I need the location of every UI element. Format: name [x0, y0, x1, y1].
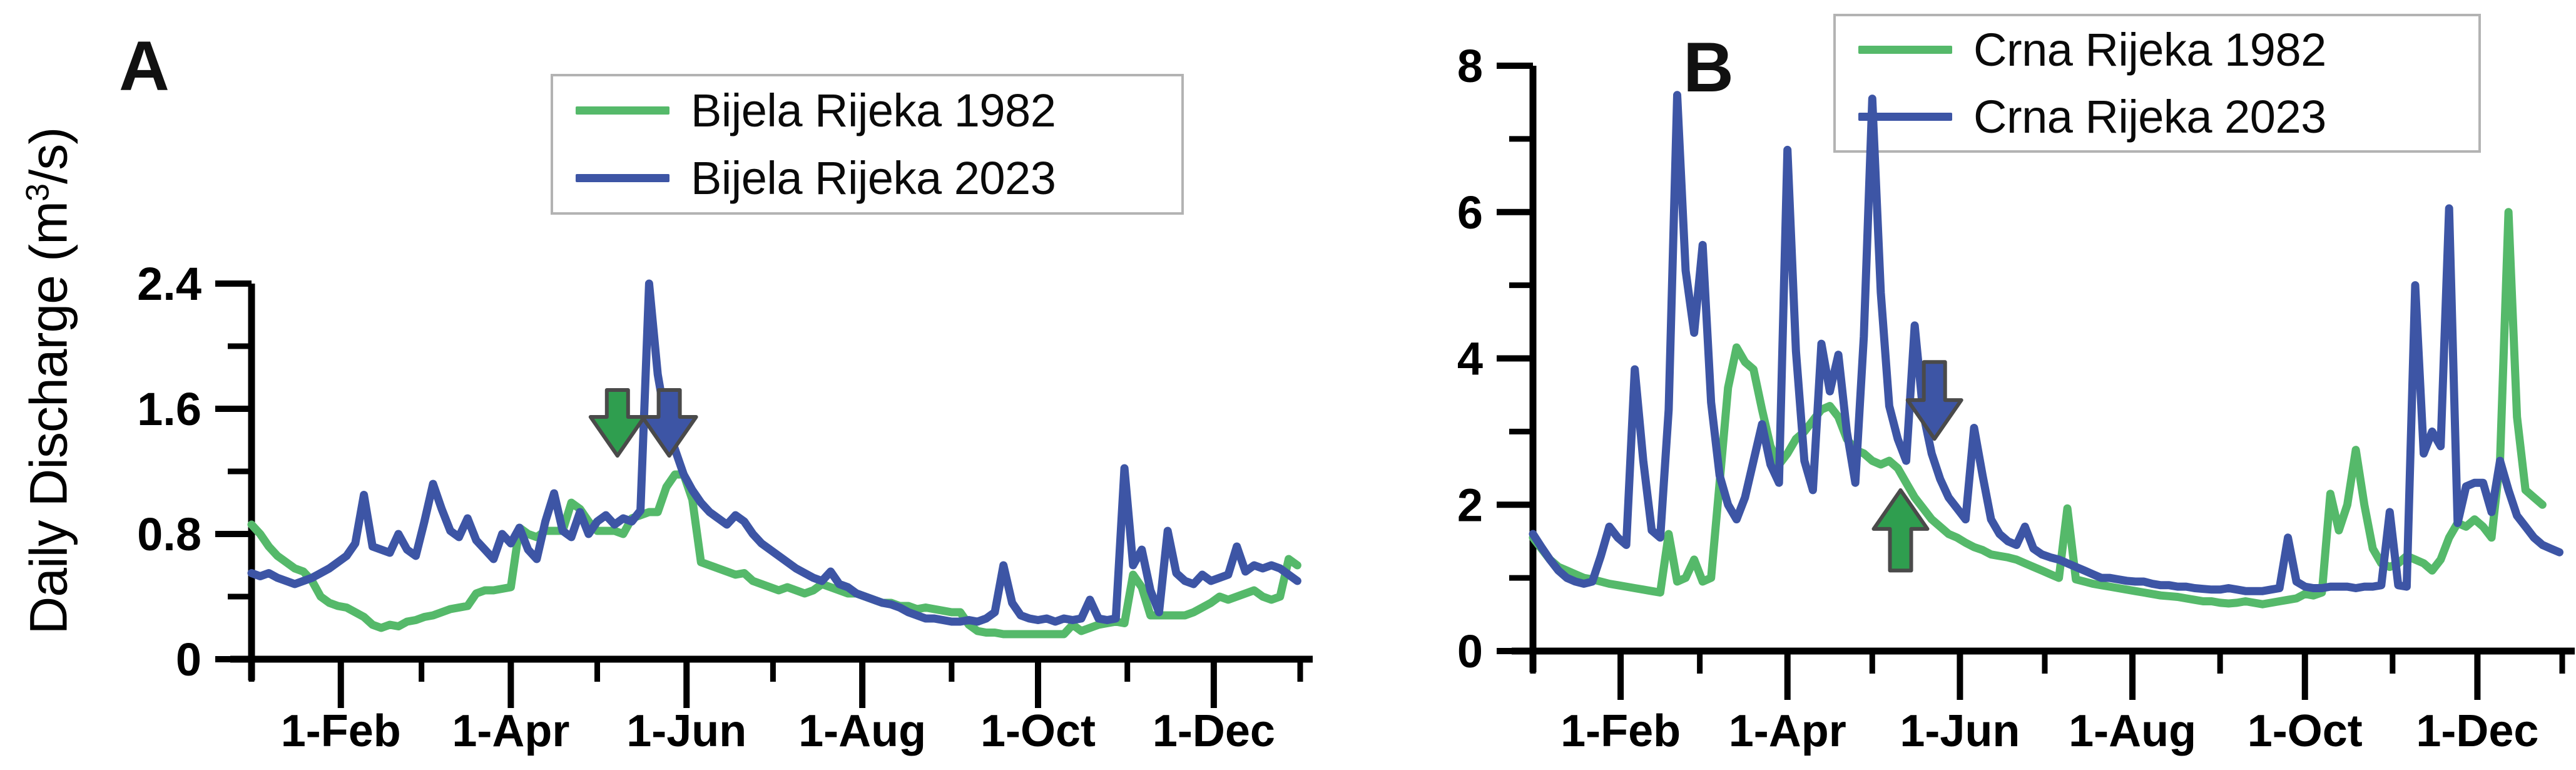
x-axis-tick-label: 1-Apr: [452, 706, 569, 756]
x-axis-tick-label: 1-Aug: [798, 706, 926, 756]
x-axis-tick-label: 1-Aug: [2069, 706, 2196, 756]
x-axis-tick-label: 1-Jun: [626, 706, 746, 756]
y-axis-tick-label: 2: [1457, 479, 1483, 531]
x-axis-tick-label: 1-Dec: [2416, 706, 2538, 756]
y-axis-tick-label: 2.4: [137, 258, 201, 310]
y-axis-tick-label: 0: [176, 634, 201, 685]
panel-b: B Crna Rijeka 1982 Crna Rijeka 2023 0246…: [1326, 0, 2576, 770]
annotation-arrow-down-icon: [591, 390, 644, 456]
annotation-arrow-down-icon: [643, 390, 696, 456]
series-line: [1533, 95, 2560, 591]
y-axis-tick-label: 6: [1457, 187, 1483, 239]
x-axis-tick-label: 1-Oct: [2248, 706, 2363, 756]
y-axis-tick-label: 0.8: [137, 508, 201, 560]
plot-area-panel-a: 00.81.62.41-Feb1-Apr1-Jun1-Aug1-Oct1-Dec: [0, 0, 1326, 770]
x-axis-tick-label: 1-Feb: [1560, 706, 1681, 756]
x-axis-tick-label: 1-Feb: [281, 706, 401, 756]
panel-a: Daily Discharge (m3/s) A Bijela Rijeka 1…: [0, 0, 1326, 770]
y-axis-tick-label: 1.6: [137, 383, 201, 435]
x-axis-tick-label: 1-Dec: [1153, 706, 1275, 756]
y-axis-tick-label: 8: [1457, 40, 1483, 92]
y-axis-tick-label: 0: [1457, 625, 1483, 677]
x-axis-tick-label: 1-Oct: [980, 706, 1096, 756]
x-axis-tick-label: 1-Jun: [1900, 706, 2020, 756]
plot-area-panel-b: 024681-Feb1-Apr1-Jun1-Aug1-Oct1-Dec: [1326, 0, 2576, 770]
x-axis-tick-label: 1-Apr: [1729, 706, 1846, 756]
y-axis-tick-label: 4: [1457, 333, 1483, 385]
figure-root: Daily Discharge (m3/s) A Bijela Rijeka 1…: [0, 0, 2576, 770]
series-line: [252, 284, 1297, 622]
